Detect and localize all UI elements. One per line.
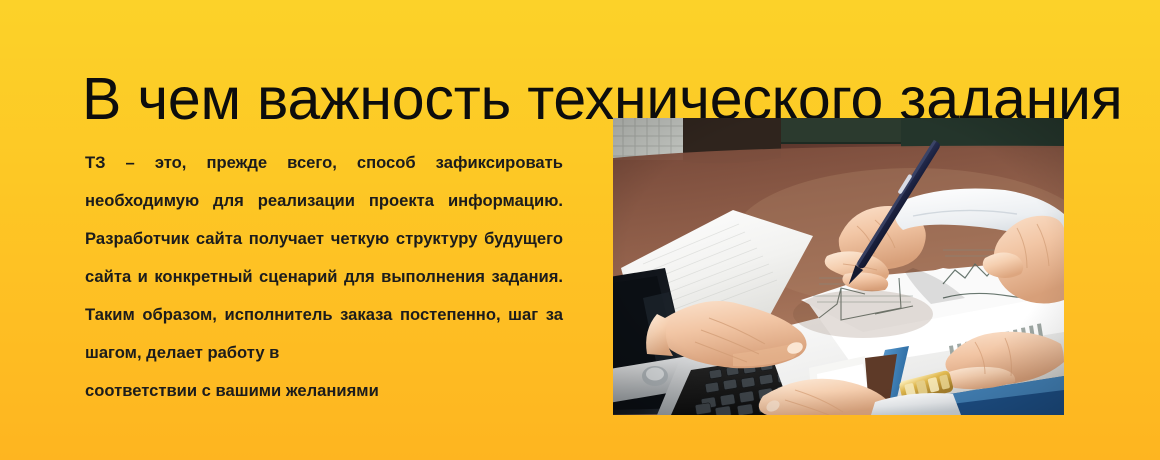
body-paragraph-text: ТЗ – это, прежде всего, способ зафиксиро…: [85, 153, 563, 362]
slide-canvas: В чем важность технического задания ТЗ –…: [0, 0, 1160, 460]
office-photo-illustration: [613, 118, 1064, 415]
body-paragraph-last-line: соответствии с вашими желаниями: [85, 372, 563, 410]
office-photo: [613, 118, 1064, 415]
body-paragraph: ТЗ – это, прежде всего, способ зафиксиро…: [85, 144, 563, 410]
